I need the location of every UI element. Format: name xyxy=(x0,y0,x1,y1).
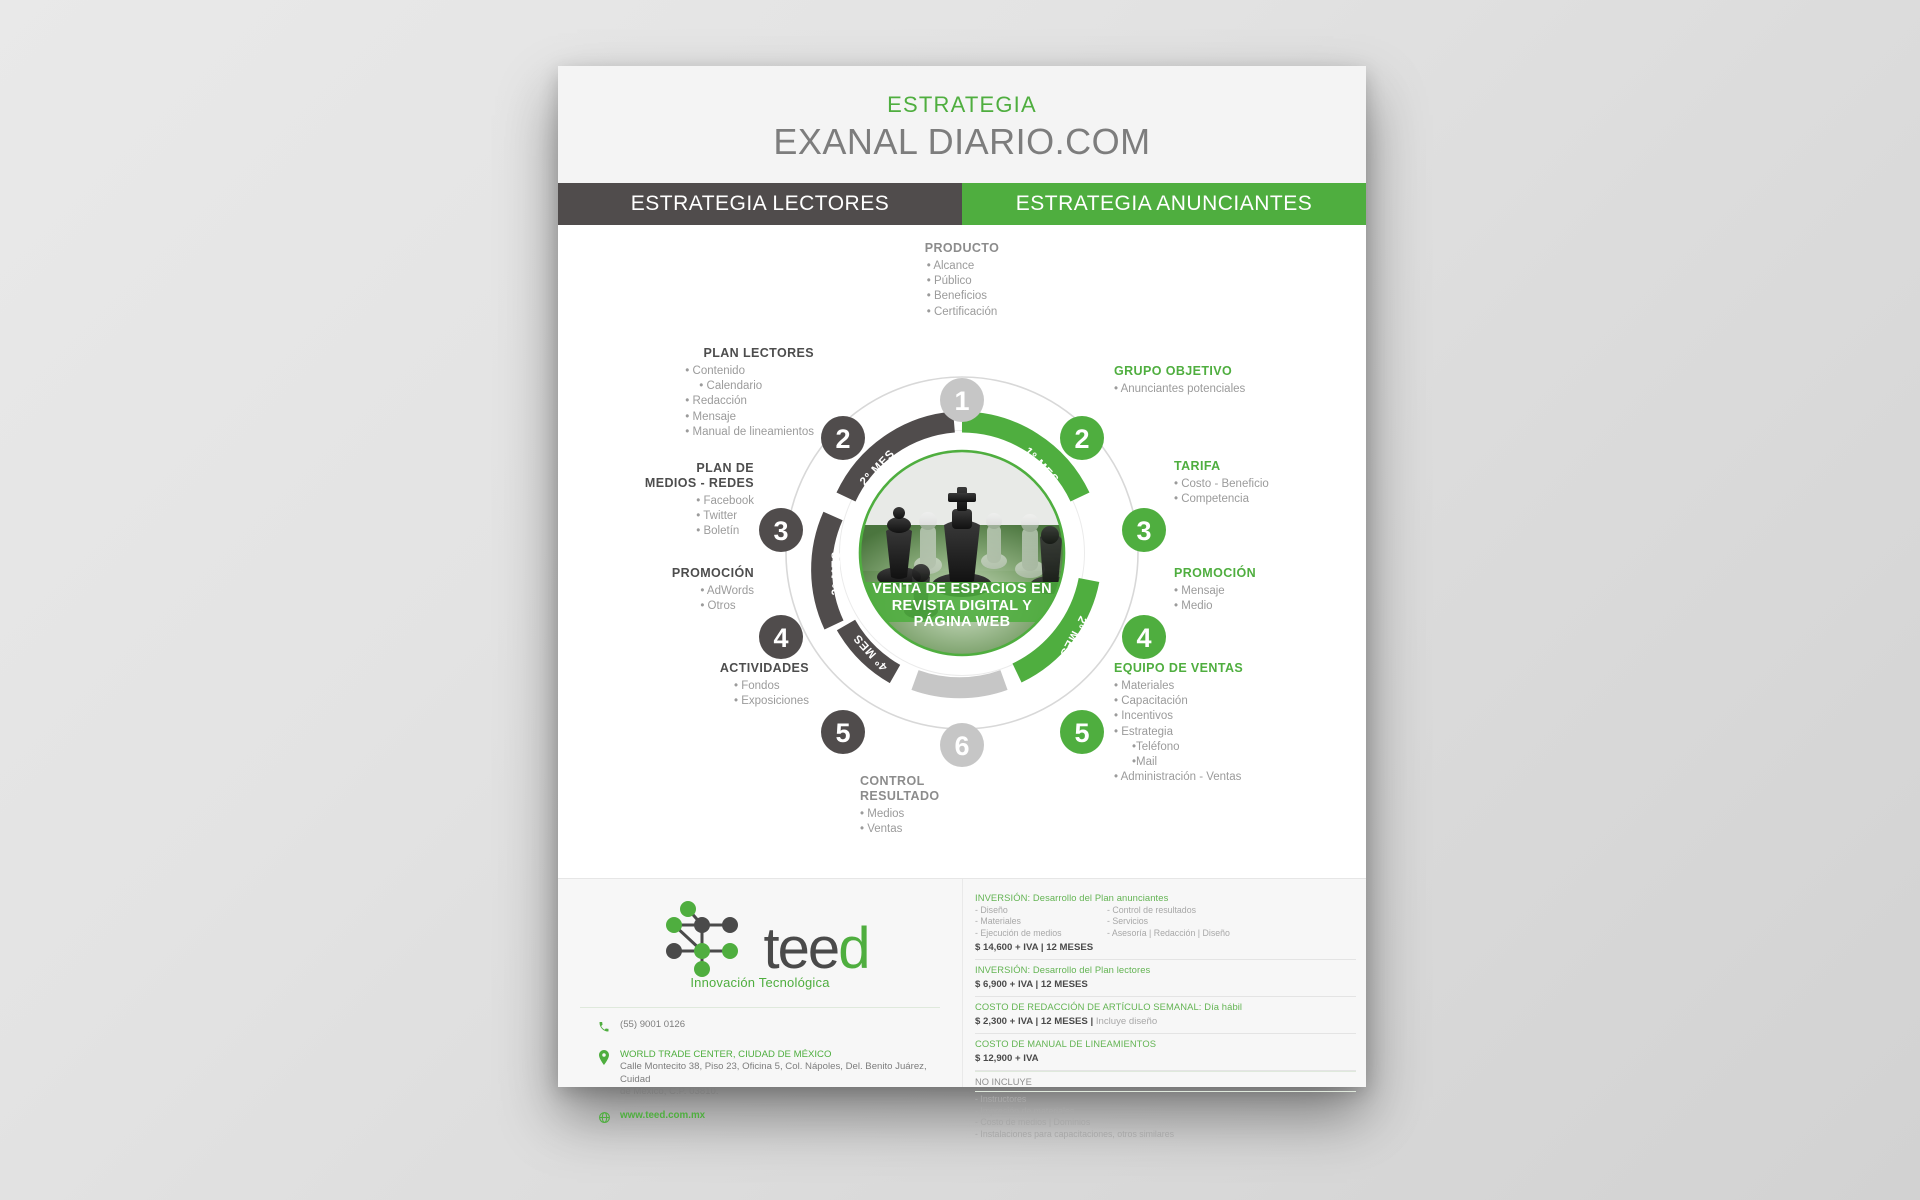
pricing-detail: - Materiales xyxy=(975,916,1107,927)
contact-phone[interactable]: (55) 9001 0126 xyxy=(620,1019,685,1031)
contact-block: (55) 9001 0126 WORLD TRADE CENTER, CIUDA… xyxy=(598,1019,946,1140)
location-pin-icon xyxy=(598,1049,620,1070)
list-item: Mail xyxy=(1114,755,1243,770)
network-nodes-icon xyxy=(652,899,764,977)
contact-phone-row: (55) 9001 0126 xyxy=(598,1019,946,1038)
node-bubble-4l: 4 xyxy=(759,615,803,659)
poster: ESTRATEGIA EXANAL DIARIO.COM ESTRATEGIA … xyxy=(558,66,1366,1086)
node-plan-lectores: PLAN LECTORES Contenido Calendario Redac… xyxy=(584,346,814,440)
contact-website[interactable]: www.teed.com.mx xyxy=(620,1110,705,1121)
svg-text:4: 4 xyxy=(1136,623,1151,653)
node-bubble-4r: 4 xyxy=(1122,615,1166,659)
list-item: Beneficios xyxy=(927,289,998,304)
exclusion-item: - Costo de medios | Dominios xyxy=(975,1117,1356,1129)
exclusions-list: - Instructores - Impresión de materiales… xyxy=(975,1094,1356,1140)
pricing-title: COSTO DE REDACCIÓN DE ARTÍCULO SEMANAL: … xyxy=(975,1001,1356,1013)
pricing-detail: - Ejecución de medios xyxy=(975,928,1107,939)
node-plan-medios: PLAN DE MEDIOS - REDES Facebook Twitter … xyxy=(574,461,754,540)
tab-estrategia-anunciantes[interactable]: ESTRATEGIA ANUNCIANTES xyxy=(962,183,1366,225)
node-bubble-5l: 5 xyxy=(821,710,865,754)
list-item: Boletín xyxy=(696,524,754,539)
contact-address: WORLD TRADE CENTER, CIUDAD DE MÉXICO Cal… xyxy=(620,1049,946,1099)
exclusion-item: - Instructores xyxy=(975,1094,1356,1106)
pricing-col-1: - Diseño - Materiales - Ejecución de med… xyxy=(975,905,1107,939)
pricing-block-redaccion: COSTO DE REDACCIÓN DE ARTÍCULO SEMANAL: … xyxy=(975,997,1356,1034)
node-tarifa-title: TARIFA xyxy=(1174,459,1269,474)
pricing-detail: - Control de resultados xyxy=(1107,905,1230,916)
list-item: Alcance xyxy=(927,259,998,274)
list-item: Manual de lineamientos xyxy=(685,425,814,440)
center-label-line1: VENTA DE ESPACIOS EN xyxy=(860,581,1064,598)
list-item: Estrategia xyxy=(1114,725,1243,740)
node-control-resultado: CONTROL RESULTADO Medios Ventas xyxy=(860,774,1020,837)
list-item: Facebook xyxy=(696,494,754,509)
list-item: Medio xyxy=(1174,599,1256,614)
pricing-title: COSTO DE MANUAL DE LINEAMIENTOS xyxy=(975,1038,1356,1050)
pricing-detail: - Diseño xyxy=(975,905,1107,916)
node-tarifa-list: Costo - Beneficio Competencia xyxy=(1174,477,1269,507)
node-equipo-list: Materiales Capacitación Incentivos Estra… xyxy=(1114,679,1243,785)
pricing-title: INVERSIÓN: Desarrollo del Plan anunciant… xyxy=(975,892,1356,904)
node-producto: PRODUCTO Alcance Público Beneficios Cert… xyxy=(804,241,1120,320)
list-item: Exposiciones xyxy=(734,694,809,709)
address-title: WORLD TRADE CENTER, CIUDAD DE MÉXICO xyxy=(620,1049,946,1061)
pricing-detail: - Asesoría | Redacción | Diseño xyxy=(1107,928,1230,939)
list-item: Medios xyxy=(860,807,1020,822)
node-producto-title: PRODUCTO xyxy=(804,241,1120,256)
list-item: Fondos xyxy=(734,679,809,694)
list-item: Capacitación xyxy=(1114,694,1243,709)
list-item: Mensaje xyxy=(1174,584,1256,599)
node-plan-lectores-list: Contenido Calendario Redacción Mensaje M… xyxy=(685,364,814,440)
node-promocion-left: PROMOCIÓN AdWords Otros xyxy=(594,566,754,614)
pricing-detail: - Servicios xyxy=(1107,916,1230,927)
exclusion-item: - Impresión de materiales xyxy=(975,1106,1356,1118)
svg-text:5: 5 xyxy=(835,718,850,748)
list-item: Administración - Ventas xyxy=(1114,770,1243,785)
node-control-title-2: RESULTADO xyxy=(860,789,1020,804)
page-title: EXANAL DIARIO.COM xyxy=(558,121,1366,163)
pricing-detail-cols: - Diseño - Materiales - Ejecución de med… xyxy=(975,905,1356,939)
list-item: Competencia xyxy=(1174,492,1269,507)
svg-text:3: 3 xyxy=(1136,516,1151,546)
logo-wordmark: teed xyxy=(764,921,869,977)
node-actividades-title: ACTIVIDADES xyxy=(624,661,809,676)
list-item: Certificación xyxy=(927,305,998,320)
node-actividades-list: Fondos Exposiciones xyxy=(734,679,809,709)
node-producto-list: Alcance Público Beneficios Certificación xyxy=(927,259,998,320)
node-bubble-2r: 2 xyxy=(1060,416,1104,460)
pricing-block-plan-lectores: INVERSIÓN: Desarrollo del Plan lectores … xyxy=(975,960,1356,997)
node-equipo-title: EQUIPO DE VENTAS xyxy=(1114,661,1243,676)
header-eyebrow: ESTRATEGIA xyxy=(558,92,1366,118)
svg-text:2: 2 xyxy=(1074,424,1089,454)
node-grupo-title: GRUPO OBJETIVO xyxy=(1114,364,1245,379)
list-item: Mensaje xyxy=(685,410,814,425)
node-bubble-3l: 3 xyxy=(759,508,803,552)
logo-word-d: d xyxy=(838,916,868,981)
center-label-line2: REVISTA DIGITAL Y xyxy=(860,598,1064,615)
pricing-amount-note: Incluye diseño xyxy=(1096,1016,1157,1027)
node-actividades: ACTIVIDADES Fondos Exposiciones xyxy=(624,661,809,709)
pricing-amount-value: $ 2,300 + IVA | 12 MESES | xyxy=(975,1016,1096,1027)
list-item: Anunciantes potenciales xyxy=(1114,382,1245,397)
node-grupo-list: Anunciantes potenciales xyxy=(1114,382,1245,397)
logo-tagline: Innovación Tecnológica xyxy=(558,975,962,990)
pricing-block-manual: COSTO DE MANUAL DE LINEAMIENTOS $ 12,900… xyxy=(975,1034,1356,1071)
list-item: Contenido xyxy=(685,364,814,379)
svg-text:3: 3 xyxy=(773,516,788,546)
exclusions-divider-2 xyxy=(975,1091,1356,1092)
pricing-amount: $ 12,900 + IVA xyxy=(975,1052,1356,1065)
node-promocion-right-title: PROMOCIÓN xyxy=(1174,566,1256,581)
poster-footer: teed Innovación Tecnológica (55) 9001 01… xyxy=(558,878,1366,1087)
node-bubble-2l: 2 xyxy=(821,416,865,460)
list-item: Calendario xyxy=(685,379,814,394)
node-equipo-ventas: EQUIPO DE VENTAS Materiales Capacitación… xyxy=(1114,661,1243,785)
list-item: AdWords xyxy=(700,584,754,599)
contact-address-row: WORLD TRADE CENTER, CIUDAD DE MÉXICO Cal… xyxy=(598,1049,946,1099)
node-control-title-1: CONTROL xyxy=(860,774,1020,789)
node-plan-medios-list: Facebook Twitter Boletín xyxy=(696,494,754,540)
teed-logo: teed xyxy=(558,899,962,977)
list-item: Otros xyxy=(700,599,754,614)
footer-brand-panel: teed Innovación Tecnológica (55) 9001 01… xyxy=(558,879,962,1087)
pricing-panel: INVERSIÓN: Desarrollo del Plan anunciant… xyxy=(962,879,1366,1087)
list-item: Twitter xyxy=(696,509,754,524)
address-line-1: Calle Montecito 38, Piso 23, Oficina 5, … xyxy=(620,1061,946,1086)
center-label-line3: PÁGINA WEB xyxy=(860,614,1064,631)
globe-icon xyxy=(598,1110,620,1129)
node-bubble-5r: 5 xyxy=(1060,710,1104,754)
list-item: Teléfono xyxy=(1114,740,1243,755)
svg-text:6: 6 xyxy=(954,731,969,761)
node-tarifa: TARIFA Costo - Beneficio Competencia xyxy=(1174,459,1269,507)
logo-word-tee: tee xyxy=(764,916,839,981)
svg-text:2: 2 xyxy=(835,424,850,454)
node-bubble-1: 1 xyxy=(940,378,984,422)
poster-header: ESTRATEGIA EXANAL DIARIO.COM xyxy=(558,66,1366,183)
tab-estrategia-lectores[interactable]: ESTRATEGIA LECTORES xyxy=(558,183,962,225)
exclusions-title: NO INCLUYE xyxy=(975,1072,1356,1091)
node-bubble-3r: 3 xyxy=(1122,508,1166,552)
list-item: Materiales xyxy=(1114,679,1243,694)
list-item: Redacción xyxy=(685,394,814,409)
node-grupo-objetivo: GRUPO OBJETIVO Anunciantes potenciales xyxy=(1114,364,1245,397)
tab-bar: ESTRATEGIA LECTORES ESTRATEGIA ANUNCIANT… xyxy=(558,183,1366,225)
svg-text:4: 4 xyxy=(773,623,788,653)
node-plan-medios-title-2: MEDIOS - REDES xyxy=(574,476,754,491)
list-item: Ventas xyxy=(860,822,1020,837)
phone-icon xyxy=(598,1019,620,1038)
list-item: Incentivos xyxy=(1114,709,1243,724)
arc-label-3g: 3º MES xyxy=(940,702,985,714)
pricing-amount: $ 6,900 + IVA | 12 MESES xyxy=(975,978,1356,991)
pricing-col-2: - Control de resultados - Servicios - As… xyxy=(1107,905,1230,939)
center-label: VENTA DE ESPACIOS EN REVISTA DIGITAL Y P… xyxy=(860,581,1064,631)
pricing-title: INVERSIÓN: Desarrollo del Plan lectores xyxy=(975,964,1356,976)
exclusion-item: - Instalaciones para capacitaciones, otr… xyxy=(975,1129,1356,1141)
node-promocion-right-list: Mensaje Medio xyxy=(1174,584,1256,614)
node-promocion-left-list: AdWords Otros xyxy=(700,584,754,614)
node-promocion-left-title: PROMOCIÓN xyxy=(594,566,754,581)
list-item: Público xyxy=(927,274,998,289)
contact-website-row: www.teed.com.mx xyxy=(598,1110,946,1129)
footer-divider xyxy=(580,1007,940,1008)
node-promocion-right: PROMOCIÓN Mensaje Medio xyxy=(1174,566,1256,614)
node-plan-medios-title-1: PLAN DE xyxy=(574,461,754,476)
node-plan-lectores-title: PLAN LECTORES xyxy=(584,346,814,361)
pricing-block-plan-anunciantes: INVERSIÓN: Desarrollo del Plan anunciant… xyxy=(975,888,1356,960)
svg-text:5: 5 xyxy=(1074,718,1089,748)
address-line-2: de México, C.P. 03810. xyxy=(620,1086,946,1098)
node-control-list: Medios Ventas xyxy=(860,807,1020,837)
svg-text:1: 1 xyxy=(954,386,969,416)
list-item: Costo - Beneficio xyxy=(1174,477,1269,492)
strategy-wheel-diagram: 1º MES 2º MES 2º MES 3º MES 4º MES 3º ME… xyxy=(558,225,1366,878)
arc-label-3d: 3º MES xyxy=(831,551,843,596)
pricing-amount: $ 14,600 + IVA | 12 MESES xyxy=(975,941,1356,954)
node-bubble-6: 6 xyxy=(940,723,984,767)
pricing-amount: $ 2,300 + IVA | 12 MESES | Incluye diseñ… xyxy=(975,1015,1356,1028)
